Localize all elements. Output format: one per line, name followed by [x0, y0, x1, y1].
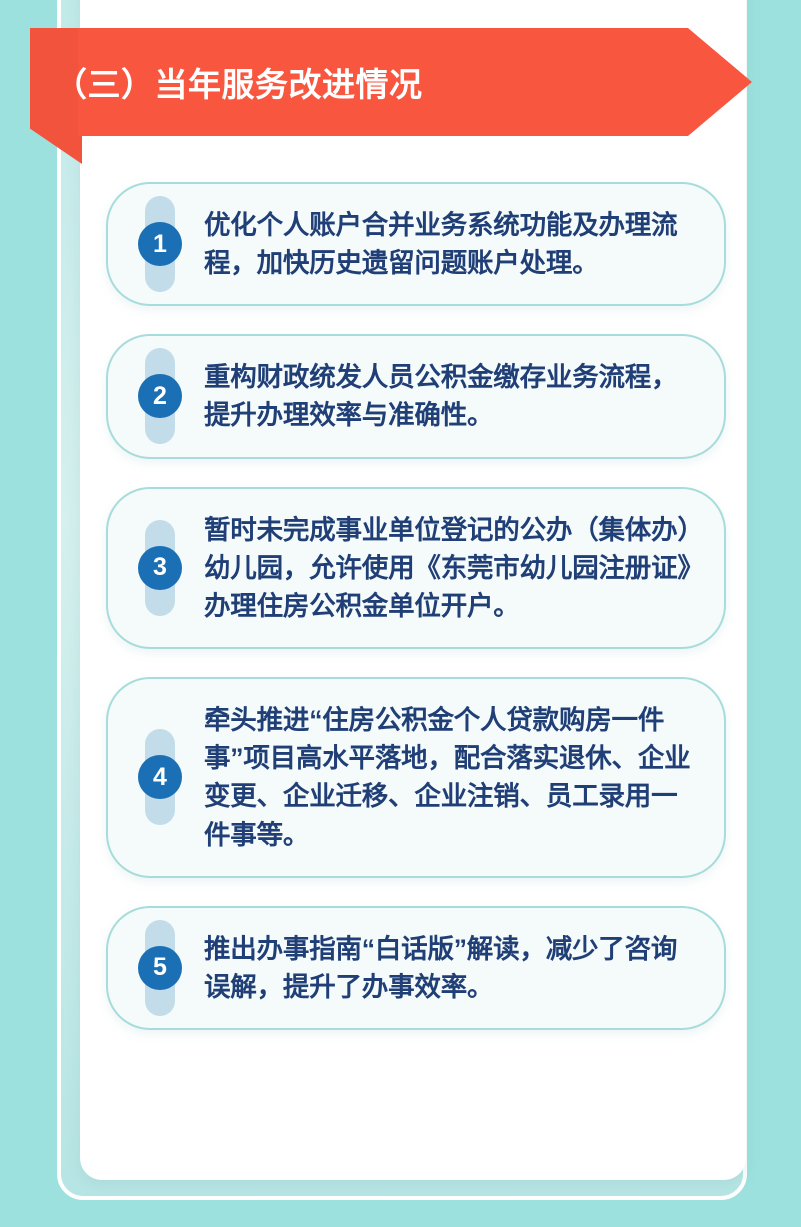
section-title: （三）当年服务改进情况: [54, 28, 423, 136]
list-item: 2 重构财政统发人员公积金缴存业务流程，提升办理效率与准确性。: [106, 334, 726, 458]
list-item: 3 暂时未完成事业单位登记的公办（集体办）幼儿园，允许使用《东莞市幼儿园注册证》…: [106, 487, 726, 649]
list-item-text: 优化个人账户合并业务系统功能及办理流程，加快历史遗留问题账户处理。: [204, 206, 698, 282]
list-item-text: 重构财政统发人员公积金缴存业务流程，提升办理效率与准确性。: [204, 358, 698, 434]
list-item: 1 优化个人账户合并业务系统功能及办理流程，加快历史遗留问题账户处理。: [106, 182, 726, 306]
item-number-badge: 1: [138, 196, 182, 292]
list-item-text: 推出办事指南“白话版”解读，减少了咨询误解，提升了办事效率。: [204, 930, 698, 1006]
item-number-badge: 4: [138, 729, 182, 825]
improvement-card-list: 1 优化个人账户合并业务系统功能及办理流程，加快历史遗留问题账户处理。 2 重构…: [106, 182, 726, 1058]
badge-number: 4: [138, 755, 182, 799]
badge-number: 5: [138, 946, 182, 990]
list-item-text: 牵头推进“住房公积金个人贷款购房一件事”项目高水平落地，配合落实退休、企业变更、…: [204, 701, 698, 854]
badge-number: 2: [138, 374, 182, 418]
badge-number: 1: [138, 222, 182, 266]
badge-number: 3: [138, 546, 182, 590]
section-banner: （三）当年服务改进情况: [30, 28, 752, 136]
list-item-text: 暂时未完成事业单位登记的公办（集体办）幼儿园，允许使用《东莞市幼儿园注册证》办理…: [204, 511, 698, 625]
list-item: 4 牵头推进“住房公积金个人贷款购房一件事”项目高水平落地，配合落实退休、企业变…: [106, 677, 726, 878]
item-number-badge: 5: [138, 920, 182, 1016]
item-number-badge: 2: [138, 348, 182, 444]
item-number-badge: 3: [138, 520, 182, 616]
list-item: 5 推出办事指南“白话版”解读，减少了咨询误解，提升了办事效率。: [106, 906, 726, 1030]
